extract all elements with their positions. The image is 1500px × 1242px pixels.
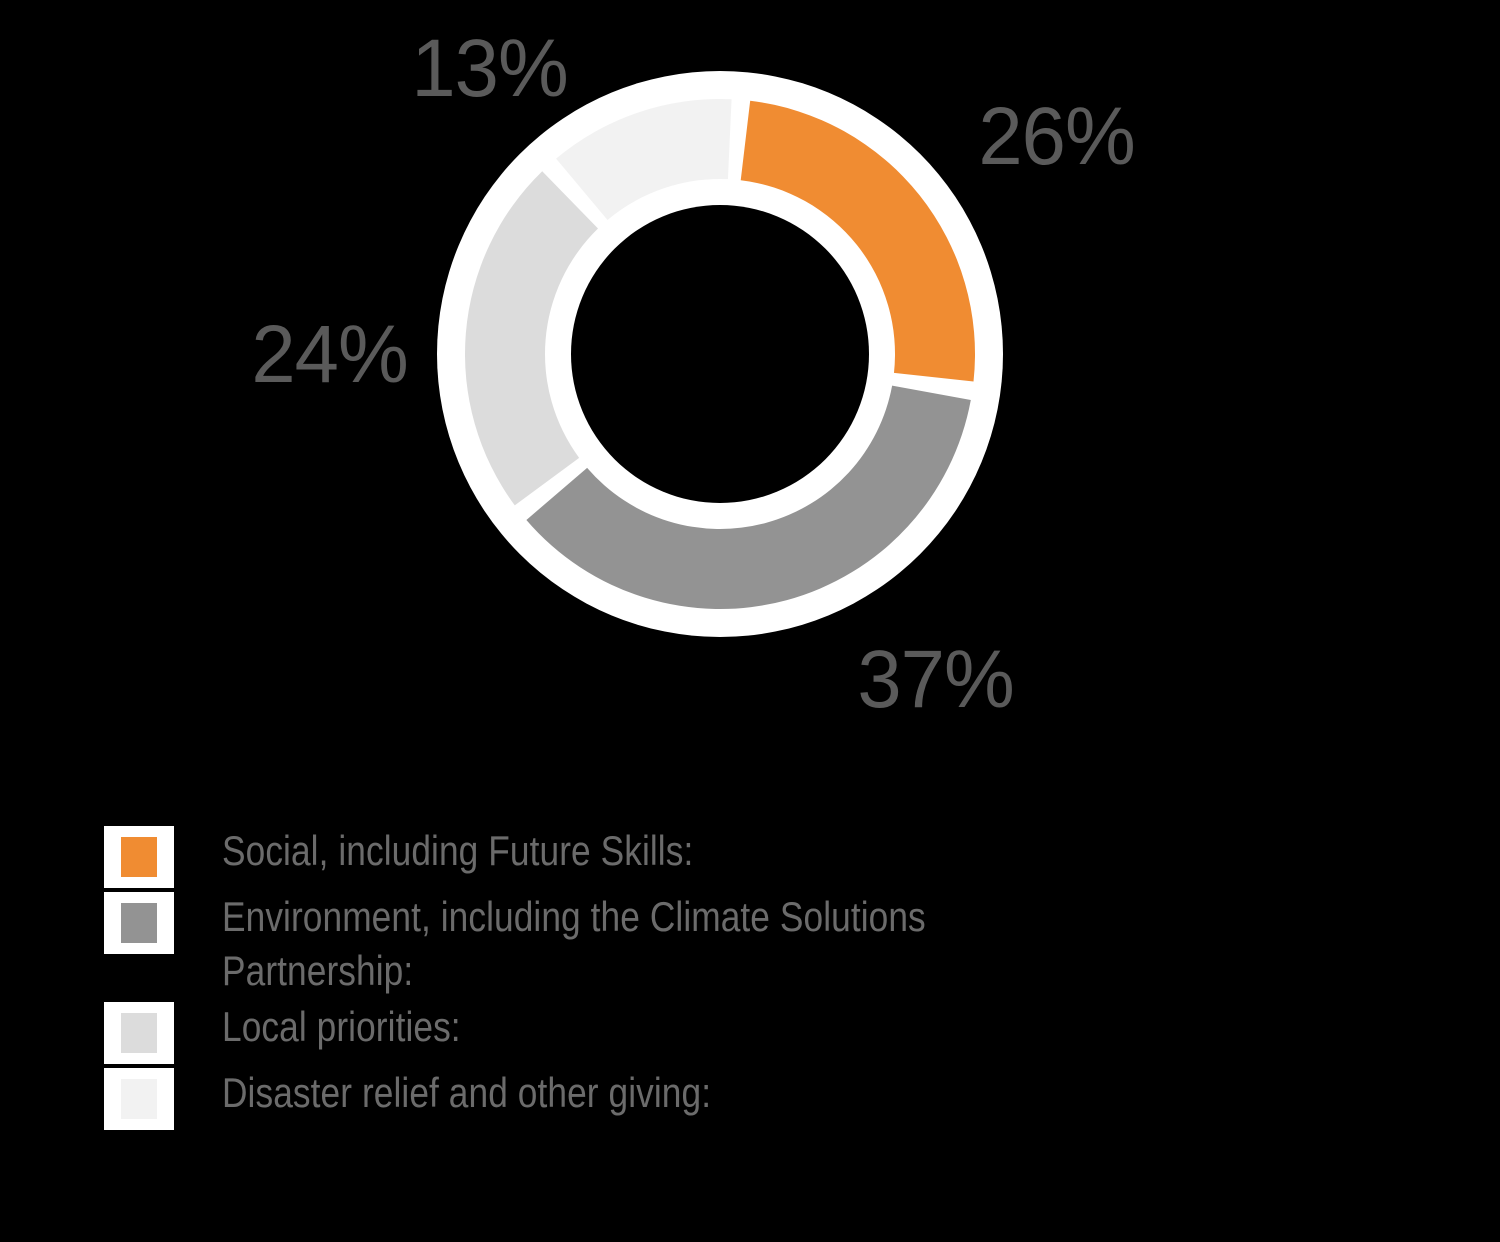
legend-color-swatch-social xyxy=(121,837,157,877)
legend-swatch-box-social xyxy=(104,826,174,888)
legend-item-local-priorities[interactable]: Local priorities: xyxy=(104,1002,1444,1064)
legend-swatch-box-disaster-relief xyxy=(104,1068,174,1130)
legend-label-social: Social, including Future Skills: xyxy=(222,824,1248,878)
donut-chart-area: 13% 26% 24% 37% xyxy=(0,0,1500,760)
donut-chart-graphic xyxy=(437,71,1003,637)
legend-color-swatch-disaster-relief xyxy=(121,1079,157,1119)
slice-value-label-disaster-relief: 13% xyxy=(411,28,567,110)
legend-label-disaster-relief: Disaster relief and other giving: xyxy=(222,1066,1248,1120)
legend-swatch-box-local-priorities xyxy=(104,1002,174,1064)
legend-swatch-box-environment xyxy=(104,892,174,954)
slice-value-label-environment: 37% xyxy=(857,639,1013,721)
legend-item-social[interactable]: Social, including Future Skills: xyxy=(104,826,1444,888)
slice-value-label-local-priorities: 24% xyxy=(251,314,407,396)
legend-item-environment[interactable]: Environment, including the Climate Solut… xyxy=(104,892,1444,998)
legend-label-environment: Environment, including the Climate Solut… xyxy=(222,890,1248,998)
legend-label-local-priorities: Local priorities: xyxy=(222,1000,1248,1054)
legend-color-swatch-local-priorities xyxy=(121,1013,157,1053)
legend-item-disaster-relief[interactable]: Disaster relief and other giving: xyxy=(104,1068,1444,1130)
donut-inner-hole xyxy=(571,205,869,503)
chart-legend: Social, including Future Skills: Environ… xyxy=(104,826,1444,1130)
legend-color-swatch-environment xyxy=(121,903,157,943)
slice-value-label-social: 26% xyxy=(978,96,1134,178)
